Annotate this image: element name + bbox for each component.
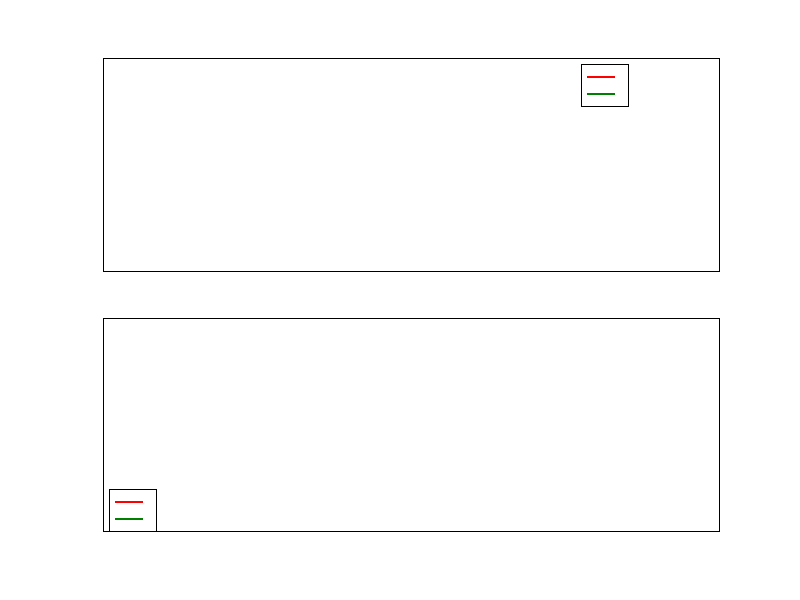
bottom-y-tick-labels xyxy=(0,318,96,532)
top-x-tick-labels xyxy=(103,274,720,298)
legend-item xyxy=(587,85,623,102)
legend-line-swatch-yy2 xyxy=(115,518,143,520)
legend-item xyxy=(587,68,623,85)
bottom-x-tick-labels xyxy=(103,534,720,558)
legend-line-swatch-xx1 xyxy=(587,76,615,78)
legend-item xyxy=(115,510,151,527)
bottom-plot-axes xyxy=(103,318,720,532)
legend-line-swatch-yy1 xyxy=(587,93,615,95)
top-y-tick-labels xyxy=(0,58,96,272)
bottom-plot-svg xyxy=(104,319,719,531)
figure-canvas xyxy=(0,0,800,600)
legend-item xyxy=(115,493,151,510)
bottom-legend xyxy=(109,489,157,532)
top-legend xyxy=(581,64,629,107)
legend-line-swatch-xx2 xyxy=(115,501,143,503)
